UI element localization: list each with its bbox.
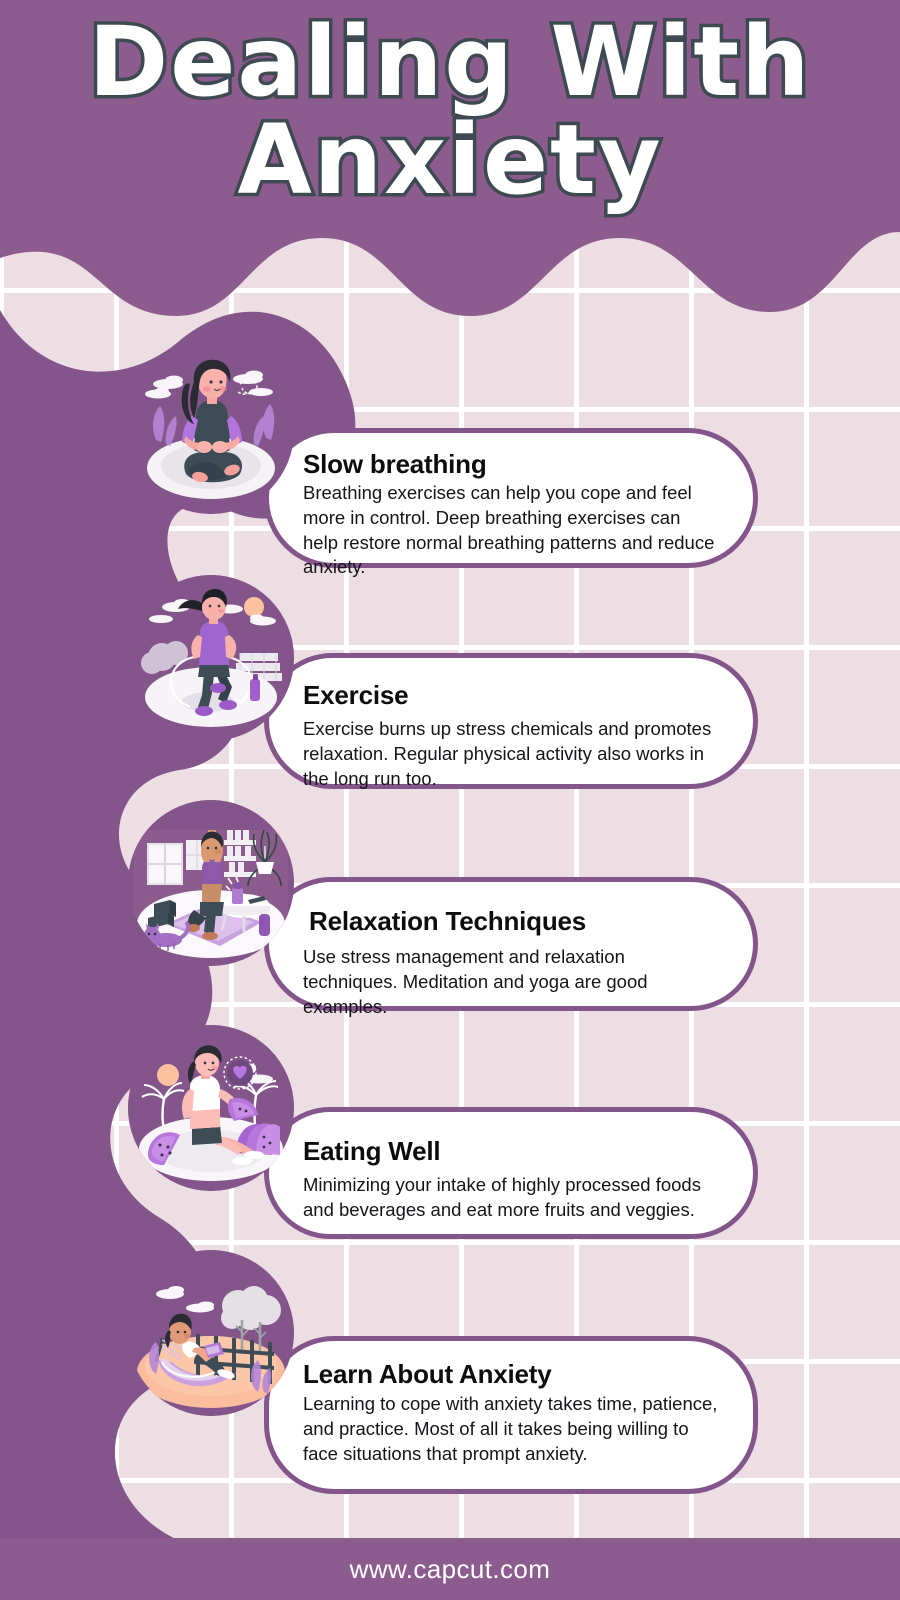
card-body: Minimizing your intake of highly process… [303,1173,719,1223]
meditation-lotus-pose-icon [128,348,294,514]
card-body: Exercise burns up stress chemicals and p… [303,717,719,791]
jump-rope-exercise-icon [128,575,294,741]
card-body: Use stress management and relaxation tec… [303,945,719,1019]
card-title: Learn About Anxiety [303,1359,719,1390]
info-card[interactable]: Learn About Anxiety Learning to cope wit… [264,1336,758,1494]
card-body: Learning to cope with anxiety takes time… [303,1392,719,1466]
info-card[interactable]: Relaxation Techniques Use stress managem… [264,877,758,1011]
title-line-2: Anxiety [0,112,900,210]
info-card[interactable]: Exercise Exercise burns up stress chemic… [264,653,758,789]
card-title: Eating Well [303,1136,719,1167]
card-title: Relaxation Techniques [303,906,719,937]
header-banner: Dealing With Anxiety [0,0,900,340]
info-card[interactable]: Eating Well Minimizing your intake of hi… [264,1107,758,1239]
reading-in-hammock-icon [128,1250,294,1416]
info-card[interactable]: Slow breathing Breathing exercises can h… [264,428,758,568]
title-line-1: Dealing With [0,14,900,112]
card-title: Exercise [303,680,719,711]
page-title: Dealing With Anxiety [0,14,900,210]
card-body: Breathing exercises can help you cope an… [303,481,719,580]
footer-bar: www.capcut.com [0,1538,900,1600]
yoga-tree-pose-icon [128,800,294,966]
eating-watermelon-icon [128,1025,294,1191]
card-title: Slow breathing [303,449,719,480]
website-url[interactable]: www.capcut.com [350,1554,551,1585]
